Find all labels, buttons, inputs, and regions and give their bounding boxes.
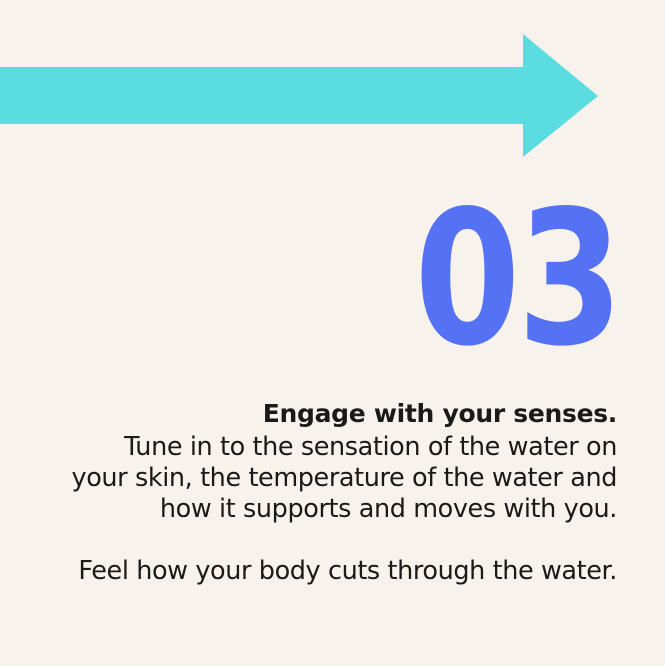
copy-paragraph-spacer — [40, 525, 617, 556]
copy-closing-line: Feel how your body cuts through the wate… — [40, 556, 617, 587]
copy-body-line-1: Tune in to the sensation of the water on — [40, 432, 617, 463]
copy-block: Engage with your senses. Tune in to the … — [40, 398, 617, 587]
step-number: 03 — [112, 186, 620, 372]
copy-body-line-2: your skin, the temperature of the water … — [40, 463, 617, 494]
slide-canvas: 03 Engage with your senses. Tune in to t… — [0, 0, 665, 666]
copy-body-line-3: how it supports and moves with you. — [40, 494, 617, 525]
copy-heading: Engage with your senses. — [40, 398, 617, 430]
